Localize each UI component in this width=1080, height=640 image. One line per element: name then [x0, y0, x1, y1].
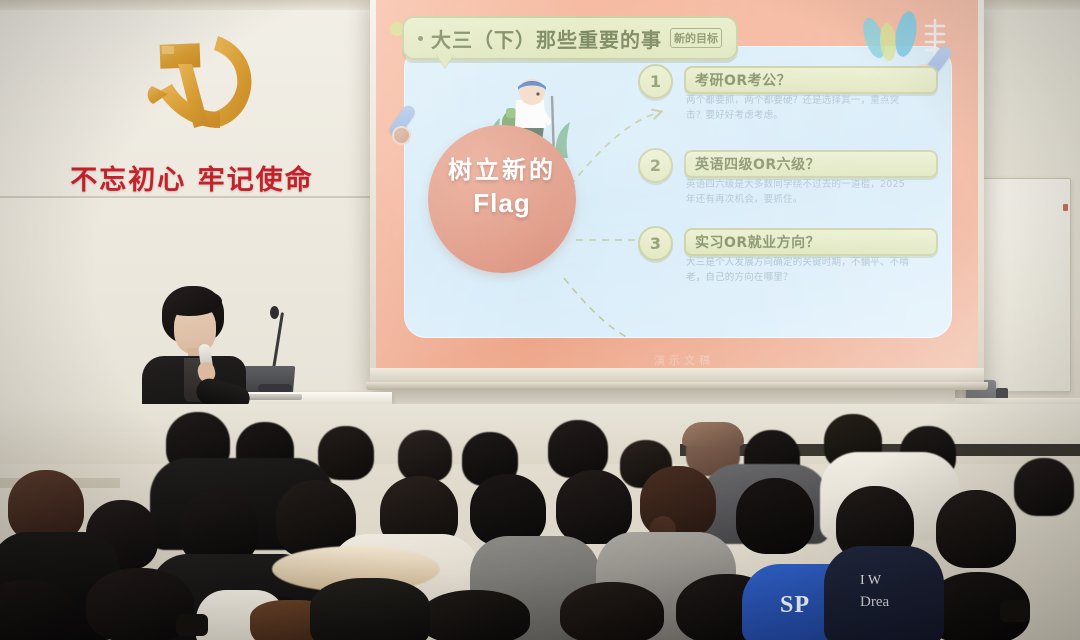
center-label-en: Flag [428, 188, 576, 219]
sweatshirt-print-icon: I W Drea [856, 566, 930, 622]
audience-head [398, 430, 452, 482]
audience-cap-icon [682, 422, 744, 446]
item-3-heading-box: 实习OR就业方向？ [684, 228, 938, 256]
gooseneck-mic-capsule-icon [270, 306, 279, 319]
slide-title: 大三（下）那些重要的事 [431, 24, 662, 53]
item-1-number: 1 [638, 64, 673, 99]
decor-pin-head-left-icon [392, 126, 411, 145]
wall-slogan-text: 不忘初心 牢记使命 [62, 158, 322, 197]
item-2-heading-box: 英语四级OR六级？ [684, 150, 938, 178]
audience-head [556, 470, 632, 544]
wall-whiteboard [973, 178, 1071, 392]
item-3-heading: 实习OR就业方向？ [695, 232, 820, 252]
audience-head [318, 426, 374, 480]
item-2-heading: 英语四级OR六级？ [695, 154, 820, 174]
bullet-dot-icon [418, 36, 423, 41]
audience-head-front [310, 578, 430, 640]
item-2-number: 2 [638, 148, 673, 183]
screenshot-root: 不忘初心 牢记使命 [0, 0, 1080, 640]
hair-clip-icon [176, 614, 208, 636]
slide-canvas: 大三（下）那些重要的事 新的目标 [376, 0, 978, 368]
audience-head [1014, 458, 1074, 516]
slide-watermark: 演示文稿 [604, 352, 764, 368]
projected-slide: 大三（下）那些重要的事 新的目标 [376, 0, 978, 368]
audience-head [936, 490, 1016, 568]
center-circle-label: 树立新的 Flag [428, 150, 576, 219]
whiteboard-clip-icon [1063, 204, 1068, 211]
item-1-body: 两个都要抓，两个都要硬？还是选择其一，重点突击？要好好考虑考虑。 [686, 94, 914, 123]
audience-head [736, 478, 814, 554]
item-3-body: 大三是个人发展方向确定的关键时期，不躺平、不啃老，自己的方向在哪里？ [686, 256, 914, 285]
item-3-number: 3 [638, 226, 673, 261]
svg-text:Drea: Drea [860, 594, 889, 610]
item-1-heading-box: 考研OR考公？ [684, 66, 938, 94]
mic-base [258, 384, 292, 392]
party-emblem-hammer-sickle-icon [122, 28, 272, 150]
slide-title-badge: 新的目标 [670, 28, 722, 48]
audience-area: SP I W Drea [0, 404, 1080, 640]
title-bubble-tail [436, 54, 454, 68]
item-1-heading: 考研OR考公？ [695, 70, 791, 90]
audience-head-front [560, 582, 664, 640]
screen-bottom-lip [366, 382, 988, 390]
projection-screen: 大三（下）那些重要的事 新的目标 [370, 0, 984, 388]
audience-head-front [420, 590, 530, 640]
svg-text:I W: I W [860, 573, 882, 588]
center-label-cn: 树立新的 [428, 150, 576, 185]
item-2-body: 英语四六级是大多数同学绕不过去的一道槛，2025年还有再次机会，要抓住。 [686, 178, 914, 207]
hair-clip-icon [1000, 600, 1030, 622]
